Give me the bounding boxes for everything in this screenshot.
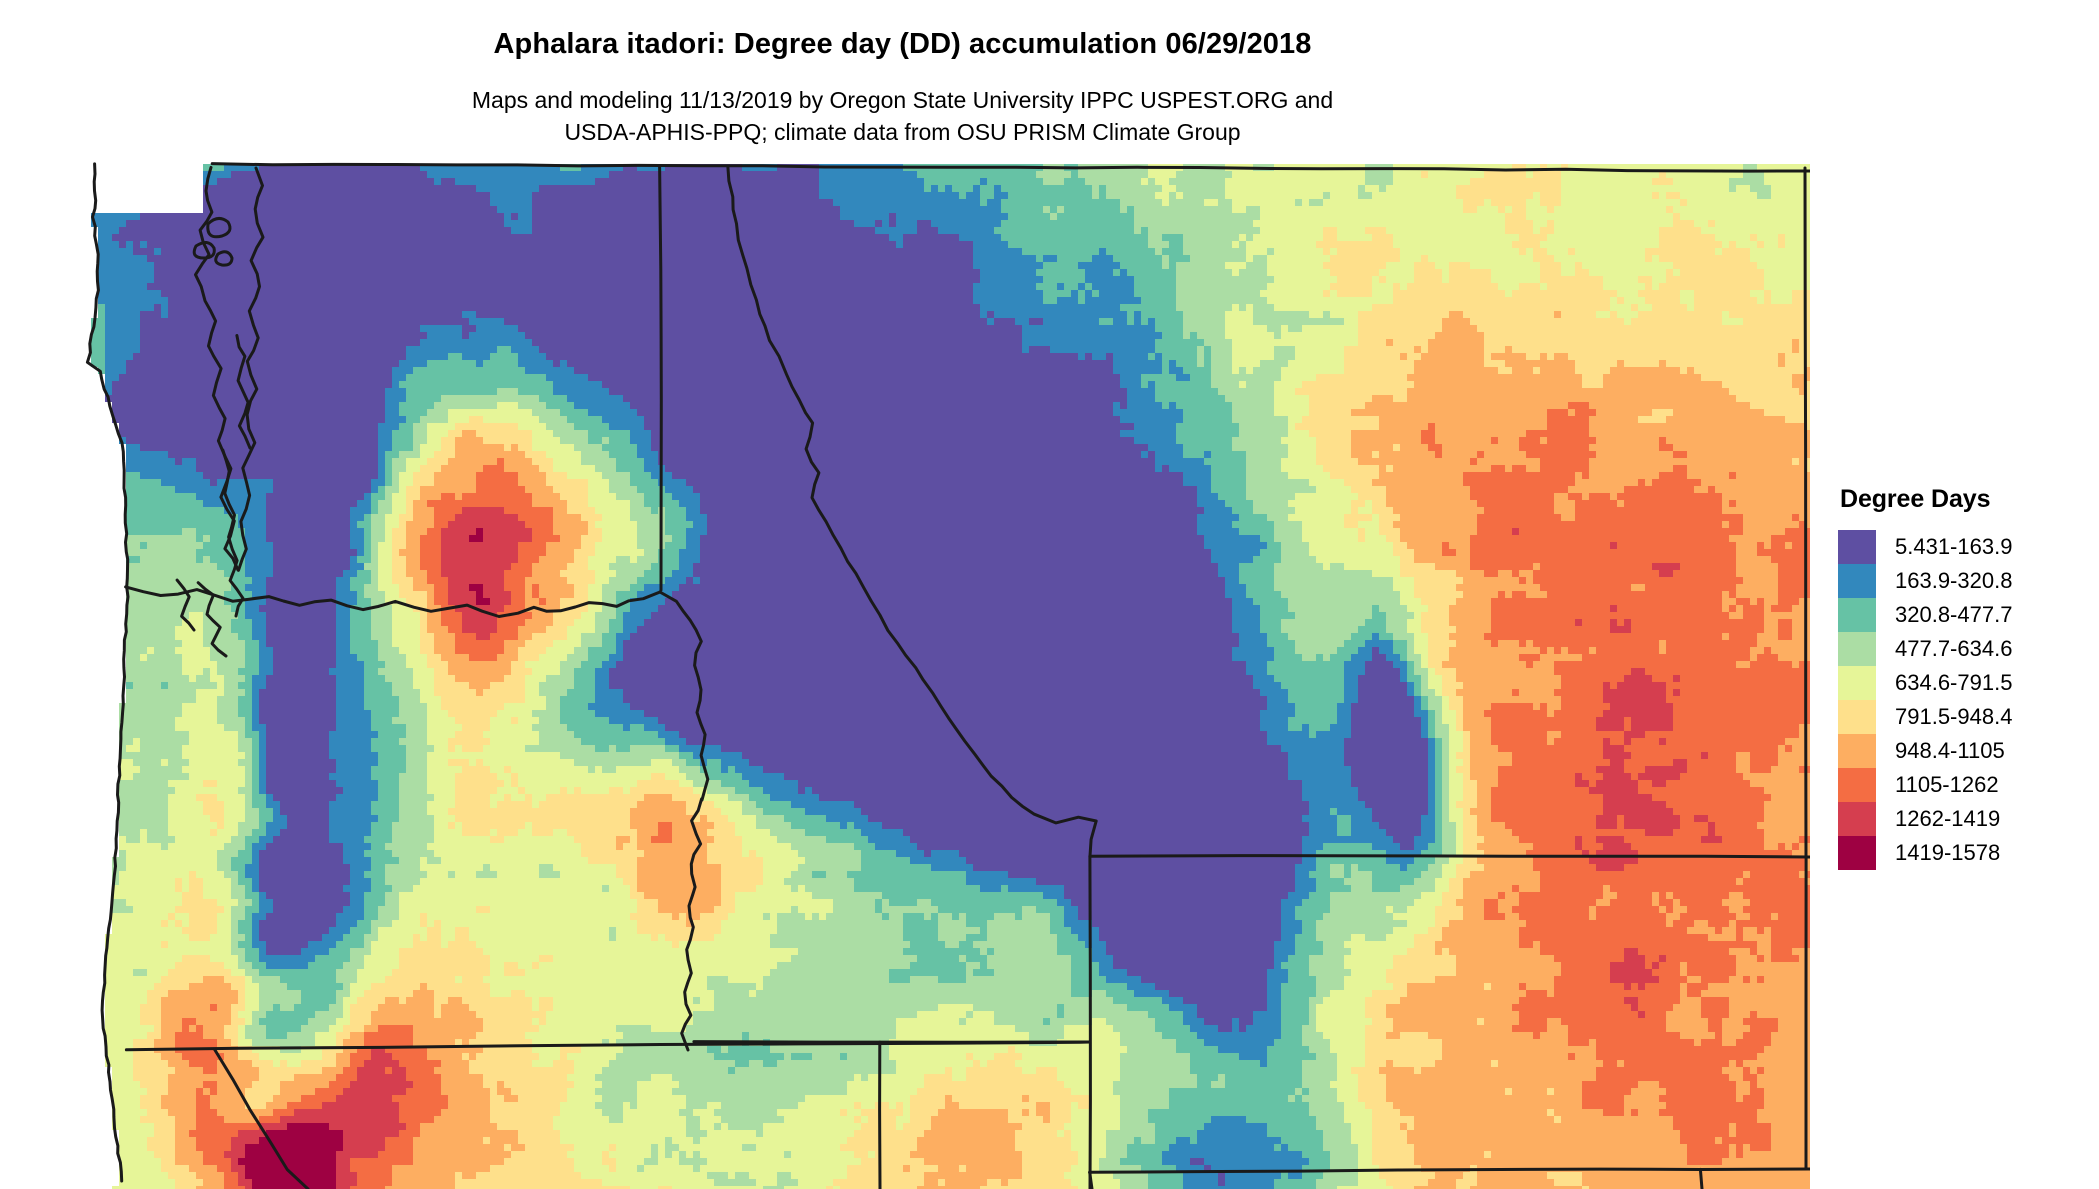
legend-label: 5.431-163.9 [1895, 536, 2012, 558]
legend-swatch [1838, 598, 1876, 632]
legend-swatch [1838, 768, 1876, 802]
legend-row: 1419-1578 [1838, 836, 2088, 870]
legend-label: 1105-1262 [1895, 774, 1999, 796]
legend-row: 634.6-791.5 [1838, 666, 2088, 700]
legend-swatch [1838, 734, 1876, 768]
map-panel[interactable] [0, 150, 1810, 1189]
legend-swatch [1838, 632, 1876, 666]
legend-row: 320.8-477.7 [1838, 598, 2088, 632]
legend-swatch [1838, 836, 1876, 870]
legend-label: 1419-1578 [1895, 842, 2000, 864]
legend-row: 948.4-1105 [1838, 734, 2088, 768]
subtitle-line-1: Maps and modeling 11/13/2019 by Oregon S… [0, 85, 1805, 117]
legend-swatch [1838, 802, 1876, 836]
page-subtitle: Maps and modeling 11/13/2019 by Oregon S… [0, 85, 1805, 148]
raster-layer [91, 164, 1810, 1189]
legend-row: 5.431-163.9 [1838, 530, 2088, 564]
legend-label: 634.6-791.5 [1895, 672, 2012, 694]
legend-row: 1262-1419 [1838, 802, 2088, 836]
legend-swatch [1838, 700, 1876, 734]
legend-swatch [1838, 564, 1876, 598]
legend-label: 320.8-477.7 [1895, 604, 2012, 626]
legend-row: 791.5-948.4 [1838, 700, 2088, 734]
legend-row: 163.9-320.8 [1838, 564, 2088, 598]
legend-row: 477.7-634.6 [1838, 632, 2088, 666]
legend-title: Degree Days [1840, 485, 2088, 514]
legend: Degree Days 5.431-163.9163.9-320.8320.8-… [1838, 485, 2088, 870]
legend-label: 791.5-948.4 [1895, 706, 2012, 728]
subtitle-line-2: USDA-APHIS-PPQ; climate data from OSU PR… [0, 117, 1805, 149]
page-title: Aphalara itadori: Degree day (DD) accumu… [0, 28, 1805, 61]
legend-row: 1105-1262 [1838, 768, 2088, 802]
legend-label: 477.7-634.6 [1895, 638, 2012, 660]
legend-swatch [1838, 666, 1876, 700]
legend-swatch [1838, 530, 1876, 564]
legend-label: 163.9-320.8 [1895, 570, 2012, 592]
legend-rows: 5.431-163.9163.9-320.8320.8-477.7477.7-6… [1838, 530, 2088, 870]
legend-label: 1262-1419 [1895, 808, 2000, 830]
degree-day-raster-map[interactable] [0, 150, 1810, 1189]
legend-label: 948.4-1105 [1895, 740, 2005, 762]
